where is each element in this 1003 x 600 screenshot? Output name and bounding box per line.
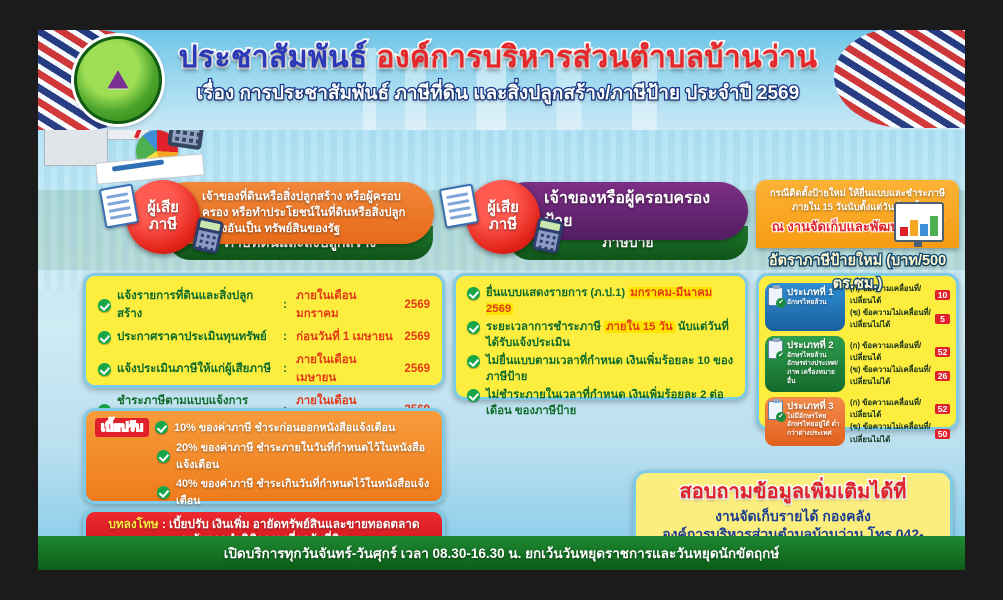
penalty-fine-text: 40% ของค่าภาษี ชำระเกินวันที่กำหนดไว้ในห… [176, 475, 433, 509]
title-block: ประชาสัมพันธ์ องค์การบริหารส่วนตำบลบ้านว… [178, 42, 818, 108]
rate-row-label: (ข) ข้อความไม่เคลื่อนที่/เปลี่ยนไม่ได้ [850, 364, 932, 388]
penalty-fine-row: 40% ของค่าภาษี ชำระเกินวันที่กำหนดไว้ในห… [95, 475, 433, 509]
rate-card: ประเภทที่ 2อักษรไทยล้วน อักษรต่างประเทศ/… [765, 336, 950, 392]
rate-row-value: 50 [935, 429, 950, 439]
poster-header: ⛰ ประชาสัมพันธ์ องค์การบริหารส่วนตำบลบ้า… [38, 30, 965, 130]
notice-line1: กรณีติดตั้งป้ายใหม่ ให้ยื่นแบบและชำระภาษ… [764, 186, 951, 200]
rate-row: (ก) ข้อความเคลื่อนที่/เปลี่ยนได้52 [850, 397, 950, 421]
schedule-label: แจ้งรายการที่ดินและสิ่งปลูกสร้าง [117, 287, 277, 323]
taxpayer-sign-description: เจ้าของหรือผู้ครอบครองป้าย [544, 188, 734, 233]
rate-card: ประเภทที่ 3ไม่มีอักษรไทย อักษรไทยอยู่ใต้… [765, 397, 950, 445]
schedule-row: แจ้งประเมินภาษีให้แก่ผู้เสียภาษี:ภายในเด… [98, 351, 430, 387]
rate-card-rows: (ก) ข้อความเคลื่อนที่/เปลี่ยนได้52(ข) ข้… [850, 340, 950, 388]
penalty-fine-row: 20% ของค่าภาษี ชำระภายในวันที่กำหนดไว้ใน… [95, 439, 433, 473]
clipboard-check-icon [768, 401, 783, 420]
rate-row-value: 5 [935, 314, 950, 324]
taxpayer-land-description: เจ้าของที่ดินหรือสิ่งปลูกสร้าง หรือผู้คร… [202, 189, 420, 238]
sign-rule-row: ระยะเวลาการชำระภาษี ภายใน 15 วัน นับแต่ว… [467, 320, 734, 351]
rate-row: (ข) ข้อความไม่เคลื่อนที่/เปลี่ยนไม่ได้5 [850, 307, 950, 331]
punishment-tag: บทลงโทษ [108, 517, 158, 531]
penalty-fine-text: 10% ของค่าภาษี ชำระก่อนออกหนังสือแจ้งเตื… [174, 419, 395, 436]
title-part-announcement: ประชาสัมพันธ์ [179, 41, 368, 74]
check-icon [157, 450, 170, 463]
rate-row-value: 52 [935, 404, 950, 414]
rate-card-rows-wrap: (ก) ข้อความเคลื่อนที่/เปลี่ยนได้52(ข) ข้… [850, 336, 950, 392]
schedule-year: 2569 [404, 331, 430, 343]
rate-card-type-desc: อักษรไทยล้วน อักษรต่างประเทศ/ภาพ เครื่อง… [787, 352, 841, 386]
sign-rate-table-panel: ประเภทที่ 1อักษรไทยล้วน(ก) ข้อความเคลื่อ… [756, 273, 959, 430]
schedule-deadline: ภายในเดือน มกราคม [296, 287, 398, 323]
check-icon [155, 421, 168, 434]
rate-row-value: 52 [935, 347, 950, 357]
rate-card-type-desc: ไม่มีอักษรไทย อักษรไทยอยู่ใต้ ต่ำกว่าต่า… [787, 413, 841, 439]
rate-card-type-label: ประเภทที่ 3 [787, 401, 841, 413]
document-icon [99, 183, 139, 228]
schedule-separator: : [283, 331, 290, 343]
sign-rule-row: ไม่ยื่นแบบตามเวลาที่กำหนด เงินเพิ่มร้อยล… [467, 354, 734, 385]
penalty-fine-text: 20% ของค่าภาษี ชำระภายในวันที่กำหนดไว้ใน… [176, 439, 433, 473]
schedule-row: ประกาศราคาประเมินทุนทรัพย์:ก่อนวันที่ 1 … [98, 328, 430, 346]
schedule-deadline: ก่อนวันที่ 1 เมษายน [296, 328, 398, 346]
rate-card-rows-wrap: (ก) ข้อความเคลื่อนที่/เปลี่ยนได้52(ข) ข้… [850, 397, 950, 445]
page-title: ประชาสัมพันธ์ องค์การบริหารส่วนตำบลบ้านว… [178, 42, 818, 74]
land-tax-schedule-panel: แจ้งรายการที่ดินและสิ่งปลูกสร้าง:ภายในเด… [83, 273, 445, 388]
badge-line1-sign: ผู้เสีย [487, 200, 519, 217]
title-part-organization: องค์การบริหารส่วนตำบลบ้านว่าน [376, 41, 817, 74]
check-icon [98, 299, 111, 312]
sign-rule-text: ไม่ชำระภายในเวลาที่กำหนด เงินเพิ่มร้อยละ… [486, 388, 734, 419]
sign-rule-highlight: มกราคม-มีนาคม 2569 [486, 287, 712, 315]
clipboard-check-icon [768, 340, 783, 359]
chart-monitor-icon [894, 202, 944, 242]
schedule-label: ประกาศราคาประเมินทุนทรัพย์ [117, 328, 277, 346]
badge-line1-land: ผู้เสีย [147, 200, 179, 217]
check-icon [98, 363, 111, 376]
check-icon [467, 287, 480, 300]
document-icon [439, 183, 479, 228]
sign-rule-row: ยื่นแบบแสดงรายการ (ภ.ป.1) มกราคม-มีนาคม … [467, 286, 734, 317]
punishment-text1: : เบี้ยปรับ เงินเพิ่ม อายัดทรัพย์สินและข… [159, 517, 420, 531]
schedule-year: 2569 [404, 363, 430, 375]
schedule-separator: : [283, 299, 290, 311]
house-small-icon [44, 126, 108, 166]
contact-heading: สอบถามข้อมูลเพิ่มเติมได้ที่ [646, 480, 940, 504]
check-icon [467, 355, 480, 368]
rate-card-type: ประเภทที่ 2อักษรไทยล้วน อักษรต่างประเทศ/… [765, 336, 845, 392]
poster: ⛰ ประชาสัมพันธ์ องค์การบริหารส่วนตำบลบ้า… [38, 30, 965, 570]
taxpayer-badge-sign: ผู้เสีย ภาษี [466, 180, 540, 254]
schedule-deadline: ภายในเดือน เมษายน [296, 351, 398, 387]
penalty-fine-tag: เบี้ยปรับ [95, 418, 149, 437]
thai-flag-ribbon-right [834, 30, 965, 128]
badge-line2-land: ภาษี [149, 217, 177, 234]
taxpayer-badge-land: ผู้เสีย ภาษี [126, 180, 200, 254]
sign-rule-row: ไม่ชำระภายในเวลาที่กำหนด เงินเพิ่มร้อยละ… [467, 388, 734, 419]
sign-rule-highlight: ภายใน 15 วัน [604, 321, 675, 333]
punishment-line1: บทลงโทษ : เบี้ยปรับ เงินเพิ่ม อายัดทรัพย… [94, 517, 434, 532]
rate-card-type-label: ประเภทที่ 2 [787, 340, 841, 352]
schedule-separator: : [283, 363, 290, 375]
rate-row: (ข) ข้อความไม่เคลื่อนที่/เปลี่ยนไม่ได้50 [850, 421, 950, 445]
contact-office: งานจัดเก็บรายได้ กองคลัง [646, 507, 940, 525]
check-icon [157, 486, 170, 499]
rate-row-label: (ก) ข้อความเคลื่อนที่/เปลี่ยนได้ [850, 397, 932, 421]
schedule-label: แจ้งประเมินภาษีให้แก่ผู้เสียภาษี [117, 360, 277, 378]
emblem-glyph: ⛰ [107, 67, 130, 94]
rate-card-type: ประเภทที่ 3ไม่มีอักษรไทย อักษรไทยอยู่ใต้… [765, 397, 845, 445]
rate-card-rows: (ก) ข้อความเคลื่อนที่/เปลี่ยนได้52(ข) ข้… [850, 397, 950, 445]
rate-row-value: 26 [935, 371, 950, 381]
page-subtitle: เรื่อง การประชาสัมพันธ์ ภาษีที่ดิน และสิ… [178, 78, 818, 108]
rate-row-label: (ก) ข้อความเคลื่อนที่/เปลี่ยนได้ [850, 340, 932, 364]
badge-line2-sign: ภาษี [489, 217, 517, 234]
monitor-bars [900, 214, 938, 236]
sign-rule-text: ยื่นแบบแสดงรายการ (ภ.ป.1) มกราคม-มีนาคม … [486, 286, 734, 317]
check-icon [467, 389, 480, 402]
rate-card-type-desc: อักษรไทยล้วน [787, 299, 841, 308]
penalty-fine-row: เบี้ยปรับ10% ของค่าภาษี ชำระก่อนออกหนังส… [95, 418, 433, 437]
rate-table-title: อัตราภาษีป้ายใหม่ (บาท/500 ตร.ซม.) [756, 249, 959, 295]
check-icon [98, 331, 111, 344]
penalty-panel: เบี้ยปรับ10% ของค่าภาษี ชำระก่อนออกหนังส… [83, 408, 445, 504]
sign-rule-text: ไม่ยื่นแบบตามเวลาที่กำหนด เงินเพิ่มร้อยล… [486, 354, 734, 385]
sign-tax-rules-panel: ยื่นแบบแสดงรายการ (ภ.ป.1) มกราคม-มีนาคม … [453, 273, 748, 400]
rate-row-label: (ข) ข้อความไม่เคลื่อนที่/เปลี่ยนไม่ได้ [850, 307, 932, 331]
office-hours-text: เปิดบริการทุกวันจันทร์-วันศุกร์ เวลา 08.… [224, 542, 779, 564]
schedule-year: 2569 [404, 299, 430, 311]
footer-hours-bar: เปิดบริการทุกวันจันทร์-วันศุกร์ เวลา 08.… [38, 536, 965, 570]
check-icon [467, 321, 480, 334]
rate-row-label: (ข) ข้อความไม่เคลื่อนที่/เปลี่ยนไม่ได้ [850, 421, 932, 445]
schedule-row: แจ้งรายการที่ดินและสิ่งปลูกสร้าง:ภายในเด… [98, 287, 430, 323]
rate-row: (ก) ข้อความเคลื่อนที่/เปลี่ยนได้52 [850, 340, 950, 364]
sign-rule-text: ระยะเวลาการชำระภาษี ภายใน 15 วัน นับแต่ว… [486, 320, 734, 351]
rate-row: (ข) ข้อความไม่เคลื่อนที่/เปลี่ยนไม่ได้26 [850, 364, 950, 388]
organization-emblem-icon: ⛰ [74, 36, 162, 124]
